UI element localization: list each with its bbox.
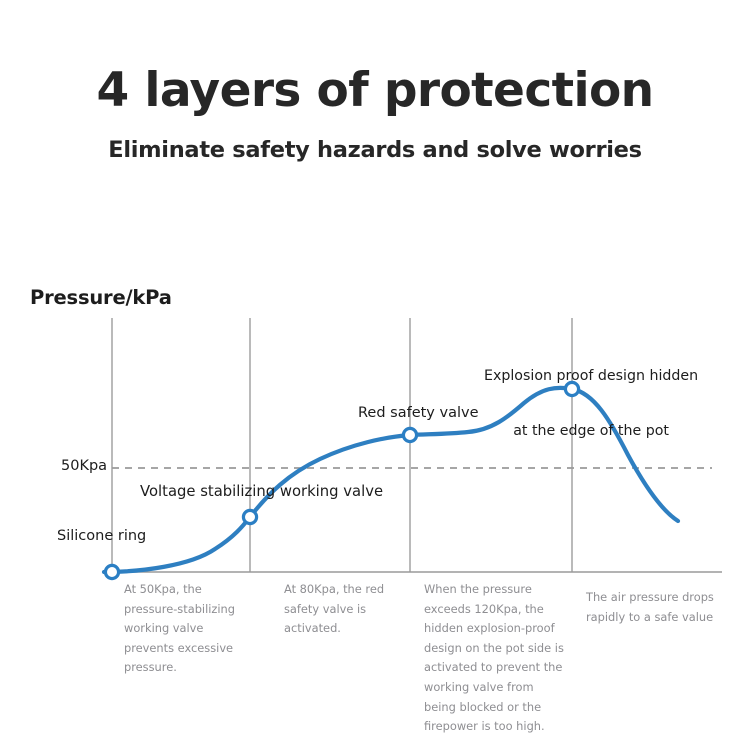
annotation-red-safety-valve: Red safety valve	[358, 405, 479, 421]
annotation-explosion-proof-line1: Explosion proof design hidden	[484, 367, 698, 385]
data-point-voltage-valve[interactable]	[243, 510, 256, 523]
data-point-red-safety-valve[interactable]	[403, 428, 416, 441]
stage-caption-2: At 80Kpa, the red safety valve is activa…	[284, 580, 414, 639]
annotation-explosion-proof: Explosion proof design hidden at the edg…	[484, 331, 698, 476]
stage-caption-1: At 50Kpa, the pressure-stabilizing worki…	[124, 580, 259, 678]
annotation-silicone-ring: Silicone ring	[57, 528, 146, 544]
annotation-explosion-proof-line2: at the edge of the pot	[484, 422, 698, 440]
pressure-chart: Pressure/kPa 50Kpa Silicone ring Voltage…	[0, 0, 750, 750]
stage-caption-4: The air pressure drops rapidly to a safe…	[586, 588, 731, 627]
infographic-page: 4 layers of protection Eliminate safety …	[0, 0, 750, 750]
stage-caption-3: When the pressure exceeds 120Kpa, the hi…	[424, 580, 574, 737]
data-point-silicone-ring[interactable]	[105, 565, 118, 578]
annotation-voltage-stabilizing-working-valve: Voltage stabilizing working valve	[140, 483, 383, 500]
